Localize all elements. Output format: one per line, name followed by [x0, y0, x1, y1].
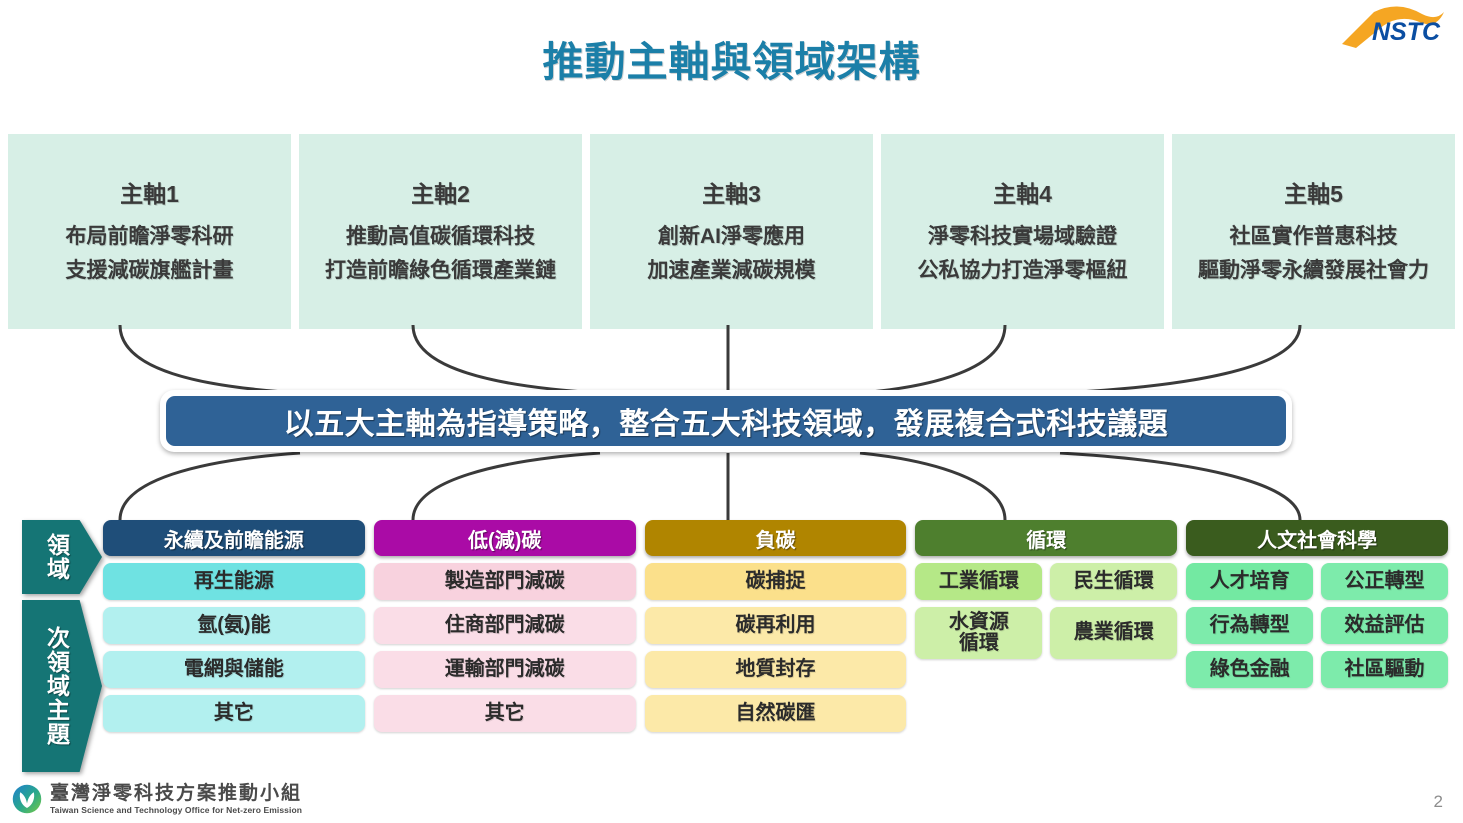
domain-subitems: 製造部門減碳 住商部門減碳 運輸部門減碳 其它: [374, 563, 636, 732]
subdomain-chip[interactable]: 住商部門減碳: [374, 607, 636, 644]
axis-label-subdomain-text: 次領域主題: [44, 626, 68, 746]
pillar-line: 推動高值碳循環科技: [346, 220, 535, 254]
pillar-line: 驅動淨零永續發展社會力: [1198, 254, 1429, 288]
pillar-card-2[interactable]: 主軸2 推動高值碳循環科技 打造前瞻綠色循環產業鏈: [299, 134, 582, 329]
domain-columns: 永續及前瞻能源 再生能源 氫(氨)能 電網與儲能 其它 低(減)碳 製造部門減碳…: [103, 520, 1448, 780]
subdomain-chip[interactable]: 民生循環: [1050, 563, 1177, 600]
pillar-line: 創新AI淨零應用: [658, 220, 805, 254]
subdomain-chip[interactable]: 碳再利用: [645, 607, 907, 644]
pillar-line: 布局前瞻淨零科研: [66, 220, 234, 254]
subdomain-subcolumn-a: 工業循環 水資源 循環: [915, 563, 1042, 659]
pillar-line: 淨零科技實場域驗證: [928, 220, 1117, 254]
axis-label-domain: 領域: [22, 520, 102, 594]
footer-org-zh: 臺灣淨零科技方案推動小組: [50, 784, 302, 803]
subdomain-chip[interactable]: 製造部門減碳: [374, 563, 636, 600]
pillar-title: 主軸5: [1284, 175, 1343, 209]
subdomain-chip[interactable]: 地質封存: [645, 651, 907, 688]
domain-subitems: 碳捕捉 碳再利用 地質封存 自然碳匯: [645, 563, 907, 732]
pillar-title: 主軸2: [411, 175, 470, 209]
subdomain-subcolumn-a: 人才培育 行為轉型 綠色金融: [1186, 563, 1313, 688]
subdomain-chip[interactable]: 社區驅動: [1321, 651, 1448, 688]
domain-header[interactable]: 人文社會科學: [1186, 520, 1448, 556]
pillar-line: 社區實作普惠科技: [1230, 220, 1398, 254]
subdomain-chip[interactable]: 其它: [103, 695, 365, 732]
domain-header[interactable]: 負碳: [645, 520, 907, 556]
pillar-line: 公私協力打造淨零樞紐: [918, 254, 1128, 288]
pillar-line: 加速產業減碳規模: [648, 254, 816, 288]
subdomain-chip[interactable]: 其它: [374, 695, 636, 732]
strategy-banner-frame: 以五大主軸為指導策略，整合五大科技領域，發展複合式科技議題: [160, 390, 1292, 452]
subdomain-subcolumn-b: 公正轉型 效益評估 社區驅動: [1321, 563, 1448, 688]
footer-org-en: Taiwan Science and Technology Office for…: [50, 806, 302, 815]
domain-header[interactable]: 低(減)碳: [374, 520, 636, 556]
page-title: 推動主軸與領域架構: [0, 28, 1463, 88]
axis-label-subdomain: 次領域主題: [22, 600, 102, 772]
subdomain-chip[interactable]: 工業循環: [915, 563, 1042, 600]
domain-column-negativecarbon: 負碳 碳捕捉 碳再利用 地質封存 自然碳匯: [645, 520, 907, 780]
leaf-circle-icon: [12, 784, 42, 814]
domain-column-humanities: 人文社會科學 人才培育 行為轉型 綠色金融 公正轉型 效益評估 社區驅動: [1186, 520, 1448, 780]
domain-header[interactable]: 循環: [915, 520, 1177, 556]
subdomain-chip[interactable]: 運輸部門減碳: [374, 651, 636, 688]
pillar-row: 主軸1 布局前瞻淨零科研 支援減碳旗艦計畫 主軸2 推動高值碳循環科技 打造前瞻…: [8, 134, 1455, 329]
footer-org-logo: 臺灣淨零科技方案推動小組 Taiwan Science and Technolo…: [12, 784, 302, 815]
pillar-card-3[interactable]: 主軸3 創新AI淨零應用 加速產業減碳規模: [590, 134, 873, 329]
subdomain-chip[interactable]: 碳捕捉: [645, 563, 907, 600]
domain-subitems: 工業循環 水資源 循環 民生循環 農業循環: [915, 563, 1177, 659]
pillar-title: 主軸1: [120, 175, 179, 209]
subdomain-chip[interactable]: 公正轉型: [1321, 563, 1448, 600]
strategy-banner: 以五大主軸為指導策略，整合五大科技領域，發展複合式科技議題: [166, 396, 1286, 446]
domain-subitems: 再生能源 氫(氨)能 電網與儲能 其它: [103, 563, 365, 732]
subdomain-chip[interactable]: 效益評估: [1321, 607, 1448, 644]
subdomain-chip[interactable]: 綠色金融: [1186, 651, 1313, 688]
pillar-card-5[interactable]: 主軸5 社區實作普惠科技 驅動淨零永續發展社會力: [1172, 134, 1455, 329]
pillar-line: 支援減碳旗艦計畫: [66, 254, 234, 288]
footer-text-block: 臺灣淨零科技方案推動小組 Taiwan Science and Technolo…: [50, 784, 302, 815]
domain-column-circular: 循環 工業循環 水資源 循環 民生循環 農業循環: [915, 520, 1177, 780]
pillar-card-1[interactable]: 主軸1 布局前瞻淨零科研 支援減碳旗艦計畫: [8, 134, 291, 329]
subdomain-chip[interactable]: 水資源 循環: [915, 607, 1042, 659]
subdomain-chip[interactable]: 行為轉型: [1186, 607, 1313, 644]
pillar-title: 主軸3: [702, 175, 761, 209]
pillar-title: 主軸4: [993, 175, 1052, 209]
subdomain-chip[interactable]: 自然碳匯: [645, 695, 907, 732]
domain-subitems: 人才培育 行為轉型 綠色金融 公正轉型 效益評估 社區驅動: [1186, 563, 1448, 688]
subdomain-chip[interactable]: 農業循環: [1050, 607, 1177, 659]
domain-column-lowcarbon: 低(減)碳 製造部門減碳 住商部門減碳 運輸部門減碳 其它: [374, 520, 636, 780]
subdomain-chip[interactable]: 人才培育: [1186, 563, 1313, 600]
subdomain-chip[interactable]: 再生能源: [103, 563, 365, 600]
slide-root: NSTC 推動主軸與領域架構 主軸1 布局前瞻淨零科研 支援減碳旗艦計畫 主軸2…: [0, 0, 1463, 823]
pillar-card-4[interactable]: 主軸4 淨零科技實場域驗證 公私協力打造淨零樞紐: [881, 134, 1164, 329]
domain-column-energy: 永續及前瞻能源 再生能源 氫(氨)能 電網與儲能 其它: [103, 520, 365, 780]
axis-label-domain-text: 領域: [44, 533, 68, 581]
domain-header[interactable]: 永續及前瞻能源: [103, 520, 365, 556]
page-number: 2: [1434, 792, 1443, 812]
subdomain-chip[interactable]: 電網與儲能: [103, 651, 365, 688]
pillar-line: 打造前瞻綠色循環產業鏈: [325, 254, 556, 288]
subdomain-chip[interactable]: 氫(氨)能: [103, 607, 365, 644]
subdomain-subcolumn-b: 民生循環 農業循環: [1050, 563, 1177, 659]
